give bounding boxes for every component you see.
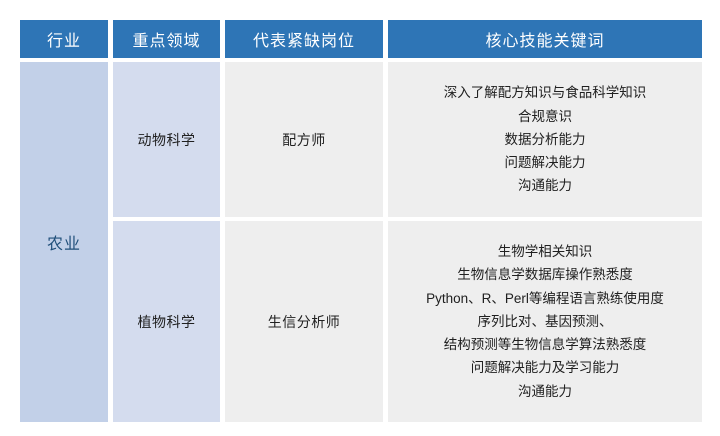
skill-line: 序列比对、基因预测、: [478, 310, 613, 333]
skill-line: 问题解决能力及学习能力: [471, 356, 620, 379]
skill-line: 问题解决能力: [505, 151, 586, 174]
skill-line: 沟通能力: [518, 380, 572, 403]
skill-line: 生物信息学数据库操作熟悉度: [457, 263, 633, 286]
role-label: 生信分析师: [268, 312, 341, 332]
table-grid: 行业 重点领域 代表紧缺岗位 核心技能关键词 农业 动物科学 配方师 深入了解配…: [20, 20, 700, 423]
column-header-focus-area-label: 重点领域: [132, 27, 200, 51]
skill-line: Python、R、Perl等编程语言熟练使用度: [426, 287, 664, 310]
industry-label: 农业: [47, 230, 81, 254]
column-header-skills: 核心技能关键词: [388, 20, 702, 58]
skills-table: 行业 重点领域 代表紧缺岗位 核心技能关键词 农业 动物科学 配方师 深入了解配…: [20, 20, 700, 423]
role-label: 配方师: [282, 130, 326, 150]
skill-line: 沟通能力: [518, 174, 572, 197]
skill-line: 深入了解配方知识与食品科学知识: [444, 81, 647, 104]
industry-cell: 农业: [20, 62, 108, 422]
focus-area-label: 植物科学: [138, 312, 196, 332]
focus-area-label: 动物科学: [138, 130, 196, 150]
table-row-2-role: 生信分析师: [225, 221, 383, 422]
column-header-focus-area: 重点领域: [113, 20, 220, 58]
skill-line: 数据分析能力: [505, 128, 586, 151]
table-row-2-skills: 生物学相关知识 生物信息学数据库操作熟悉度 Python、R、Perl等编程语言…: [388, 221, 702, 422]
table-row-2-focus-area: 植物科学: [113, 221, 220, 422]
column-header-role-label: 代表紧缺岗位: [253, 27, 355, 51]
column-header-industry: 行业: [20, 20, 108, 58]
column-header-skills-label: 核心技能关键词: [485, 27, 604, 51]
column-header-role: 代表紧缺岗位: [225, 20, 383, 58]
skill-line: 合规意识: [518, 105, 572, 128]
table-row-1-focus-area: 动物科学: [113, 62, 220, 217]
skill-line: 生物学相关知识: [498, 240, 593, 263]
table-row-1-skills: 深入了解配方知识与食品科学知识 合规意识 数据分析能力 问题解决能力 沟通能力: [388, 62, 702, 217]
skill-line: 结构预测等生物信息学算法熟悉度: [444, 333, 647, 356]
column-header-industry-label: 行业: [47, 27, 81, 51]
table-row-1-role: 配方师: [225, 62, 383, 217]
